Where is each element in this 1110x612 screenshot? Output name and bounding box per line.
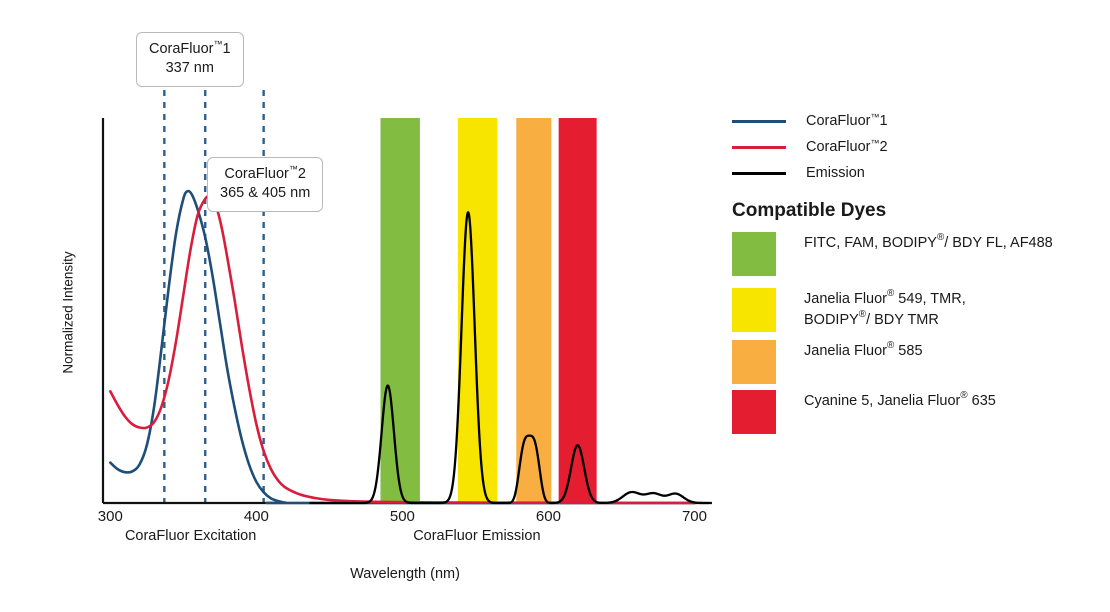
dye-label-line: FITC, FAM, BODIPY®/ BDY FL, AF488: [804, 233, 1053, 254]
compatible-dyes-heading: Compatible Dyes: [732, 200, 886, 222]
fluorescence-spectra-figure: Normalized Intensity Wavelength (nm) 300…: [0, 0, 1110, 612]
legend-series-2: CoraFluor™2: [732, 138, 888, 156]
dye-color-swatch: [732, 232, 776, 276]
dye-label-line: BODIPY®/ BDY TMR: [804, 310, 966, 331]
green-band: [380, 118, 419, 503]
dye-label: Janelia Fluor® 585: [804, 340, 923, 362]
axis-group-label-2: CoraFluor Emission: [413, 528, 540, 544]
callout-corafluor2-line2: 365 & 405 nm: [220, 184, 310, 203]
legend-line-swatch: [732, 146, 786, 149]
x-tick-label-500: 500: [372, 508, 432, 525]
emission-curve: [310, 212, 709, 503]
x-tick-label-400: 400: [226, 508, 286, 525]
x-tick-label-300: 300: [80, 508, 140, 525]
dye-label-line: Cyanine 5, Janelia Fluor® 635: [804, 391, 996, 412]
legend-panel: CoraFluor™1CoraFluor™2Emission Compatibl…: [730, 0, 1110, 612]
x-tick-label-600: 600: [518, 508, 578, 525]
axis-group-label-1: CoraFluor Excitation: [125, 528, 256, 544]
dye-row-2: Janelia Fluor® 549, TMR,BODIPY®/ BDY TMR: [732, 288, 966, 332]
legend-line-swatch: [732, 172, 786, 175]
dye-color-swatch: [732, 340, 776, 384]
dye-row-1: FITC, FAM, BODIPY®/ BDY FL, AF488: [732, 232, 1053, 276]
legend-series-label: CoraFluor™2: [806, 139, 888, 155]
legend-series-3: Emission: [732, 164, 865, 182]
callout-corafluor1-line2: 337 nm: [149, 59, 231, 78]
dye-label-line: Janelia Fluor® 585: [804, 341, 923, 362]
callout-corafluor1: CoraFluor™1337 nm: [136, 32, 244, 87]
callout-corafluor2: CoraFluor™2365 & 405 nm: [207, 157, 323, 212]
callout-corafluor2-line1: CoraFluor™2: [220, 165, 310, 184]
dye-label-line: Janelia Fluor® 549, TMR,: [804, 289, 966, 310]
callout-corafluor1-line1: CoraFluor™1: [149, 40, 231, 59]
dye-label: Cyanine 5, Janelia Fluor® 635: [804, 390, 996, 412]
y-axis-title: Normalized Intensity: [61, 223, 76, 403]
orange-band: [516, 118, 551, 503]
legend-line-swatch: [732, 120, 786, 123]
dye-color-swatch: [732, 390, 776, 434]
x-tick-label-700: 700: [664, 508, 724, 525]
dye-row-4: Cyanine 5, Janelia Fluor® 635: [732, 390, 996, 434]
dye-color-swatch: [732, 288, 776, 332]
yellow-band: [458, 118, 497, 503]
legend-series-1: CoraFluor™1: [732, 112, 888, 130]
legend-series-label: CoraFluor™1: [806, 113, 888, 129]
x-axis-title: Wavelength (nm): [270, 566, 540, 582]
legend-series-label: Emission: [806, 165, 865, 181]
dye-label: FITC, FAM, BODIPY®/ BDY FL, AF488: [804, 232, 1053, 254]
dye-label: Janelia Fluor® 549, TMR,BODIPY®/ BDY TMR: [804, 288, 966, 330]
dye-row-3: Janelia Fluor® 585: [732, 340, 923, 384]
chart-plot-area: Normalized Intensity Wavelength (nm) 300…: [0, 0, 730, 612]
